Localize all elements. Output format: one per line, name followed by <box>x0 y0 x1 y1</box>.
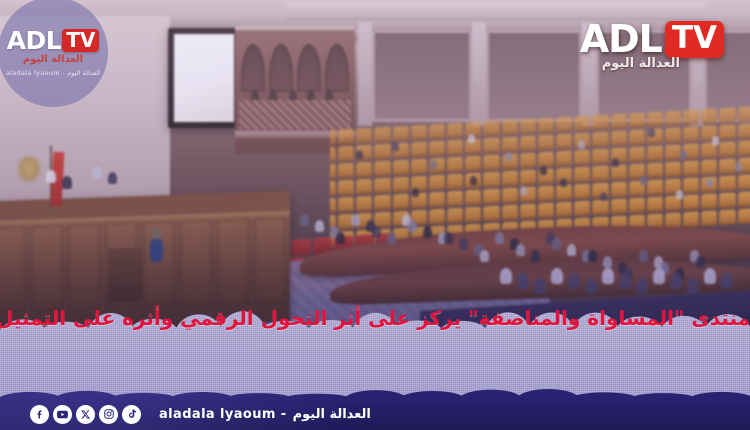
handle-arabic-text: العدالة اليوم <box>293 407 371 422</box>
watermark-tv-badge: TV <box>62 29 99 52</box>
logo-wordmark: ADL TV <box>580 20 724 58</box>
watermark-wordmark: ADL TV <box>7 28 100 53</box>
instagram-icon[interactable] <box>99 405 118 424</box>
handle-latin-text: aladala lyaoum - <box>159 407 287 422</box>
bottom-bar-content: aladala lyaoum - العدالة اليوم <box>0 401 750 427</box>
x-twitter-icon[interactable] <box>76 405 95 424</box>
watermark-arabic-text: العدالة اليوم <box>23 54 83 65</box>
watermark-adl-text: ADL <box>7 28 62 53</box>
facebook-icon[interactable] <box>30 405 49 424</box>
adl-tv-circle-watermark: ADL TV العدالة اليوم aladala lyaoum - ال… <box>0 0 108 107</box>
tiktok-icon[interactable] <box>122 405 141 424</box>
adl-tv-logo: ADL TV العدالة اليوم <box>580 20 724 71</box>
logo-adl-text: ADL <box>580 20 662 58</box>
channel-handle: aladala lyaoum - العدالة اليوم <box>159 407 371 422</box>
youtube-icon[interactable] <box>53 405 72 424</box>
news-graphic: ADL TV العدالة اليوم aladala lyaoum - ال… <box>0 0 750 430</box>
social-icons[interactable] <box>30 405 141 424</box>
watermark-latin-text: aladala lyaoum - العدالة اليوم <box>6 69 100 77</box>
headline-band: منتدى "المساواة والمناصفة" يركز على أثر … <box>0 290 750 398</box>
headline-text: منتدى "المساواة والمناصفة" يركز على أثر … <box>0 306 750 330</box>
logo-arabic-text: العدالة اليوم <box>602 56 680 71</box>
logo-tv-badge: TV <box>665 21 724 58</box>
